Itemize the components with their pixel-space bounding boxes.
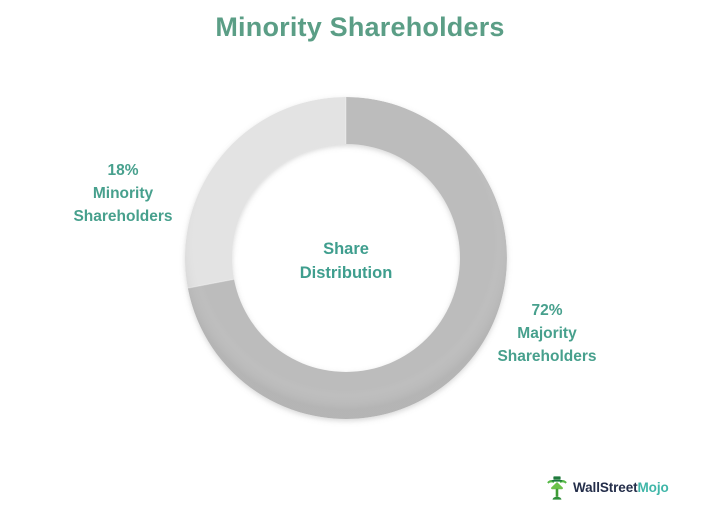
page-title: Minority Shareholders bbox=[0, 12, 720, 43]
center-label-line-1: Share bbox=[246, 238, 446, 262]
minority-label-line-1: Minority bbox=[58, 183, 188, 206]
callout-majority-shareholders: 72% Majority Shareholders bbox=[482, 300, 612, 368]
donut-center-label: Share Distribution bbox=[246, 238, 446, 286]
brand-name-secondary: Mojo bbox=[638, 480, 669, 495]
callout-minority-shareholders: 18% Minority Shareholders bbox=[58, 160, 188, 228]
center-label-line-2: Distribution bbox=[246, 262, 446, 286]
minority-label-line-2: Shareholders bbox=[58, 206, 188, 229]
brand-name-primary: WallStreet bbox=[573, 480, 638, 495]
chart-canvas: Minority Shareholders bbox=[0, 0, 720, 532]
majority-label-line-1: Majority bbox=[482, 323, 612, 346]
majority-label-line-2: Shareholders bbox=[482, 346, 612, 369]
minority-percent-value: 18% bbox=[58, 160, 188, 183]
majority-percent-value: 72% bbox=[482, 300, 612, 323]
brand-wordmark: WallStreetMojo bbox=[573, 481, 669, 495]
brand-logo[interactable]: WallStreetMojo bbox=[546, 475, 669, 501]
bull-mark-icon bbox=[546, 475, 568, 501]
